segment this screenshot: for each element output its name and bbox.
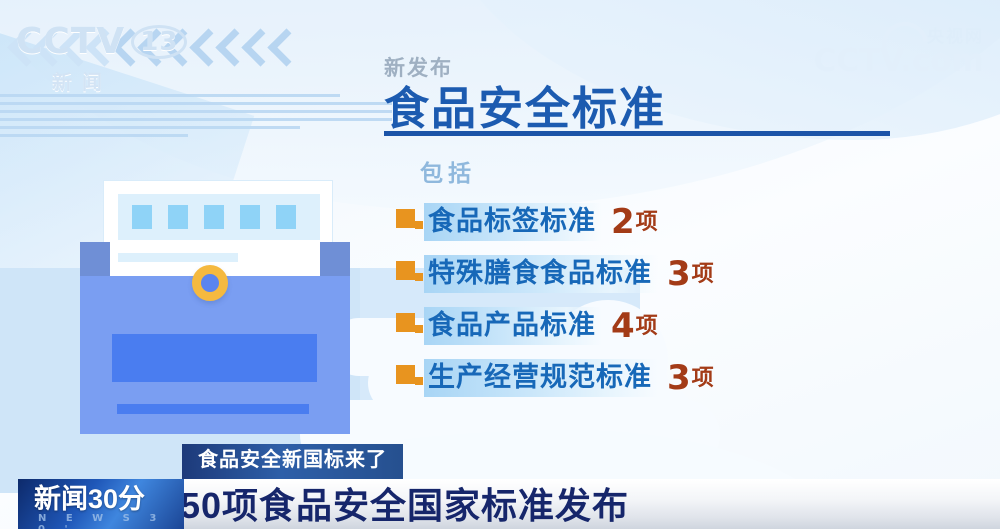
lower-third-headline: 50项食品安全国家标准发布 — [180, 484, 629, 527]
list-item-label: 食品产品标准 — [424, 307, 602, 345]
square-bullet-icon — [396, 259, 422, 289]
decorative-stripes — [0, 94, 392, 138]
list-item: 特殊膳食食品标准 3 项 — [396, 248, 856, 300]
channel-logo-number: 13 — [131, 25, 187, 60]
program-logo: 新闻30分 N E W S 3 0 ' — [18, 479, 184, 529]
document-envelope-illustration — [70, 180, 360, 440]
program-logo-text: 新闻30分 — [34, 483, 145, 515]
program-logo-subtext: N E W S 3 0 ' — [38, 513, 184, 529]
square-bullet-icon — [396, 207, 422, 237]
list-item-label: 食品标签标准 — [424, 203, 602, 241]
envelope-flap-right — [320, 242, 350, 276]
lower-third-headline-bar: 50项食品安全国家标准发布 — [58, 479, 1000, 529]
list-item: 食品标签标准 2 项 — [396, 196, 856, 248]
envelope-stripe — [117, 404, 309, 414]
title-kicker: 新发布 — [384, 58, 666, 79]
standards-list: 食品标签标准 2 项 特殊膳食食品标准 3 项 食品产品标准 4 项 生产经营规… — [396, 196, 856, 404]
envelope-flap-left — [80, 242, 110, 276]
page-title: 食品安全标准 — [384, 85, 666, 132]
list-item-label: 特殊膳食食品标准 — [424, 255, 658, 293]
chevron-left-icon — [218, 28, 240, 68]
list-item-unit: 项 — [636, 211, 658, 233]
list-item-unit: 项 — [636, 315, 658, 337]
chevron-left-icon — [244, 28, 266, 68]
chevron-left-icon — [192, 28, 214, 68]
envelope-stripe — [112, 334, 317, 382]
channel-logo: CCTV 13 新闻 — [16, 24, 187, 95]
channel-logo-text: CCTV — [16, 24, 125, 60]
lower-third-strap: 食品安全新国标来了 — [182, 444, 403, 479]
list-item: 食品产品标准 4 项 — [396, 300, 856, 352]
list-item-count: 4 — [611, 309, 635, 343]
list-item-count: 2 — [611, 205, 635, 239]
document-text-line — [118, 253, 238, 262]
chevron-left-icon — [270, 28, 292, 68]
envelope-seal-ring-icon — [192, 265, 228, 301]
list-item-count: 3 — [667, 257, 691, 291]
square-bullet-icon — [396, 363, 422, 393]
document-header-band — [118, 194, 320, 240]
list-item-unit: 项 — [692, 367, 714, 389]
list-item-label: 生产经营规范标准 — [424, 359, 658, 397]
list-intro-label: 包括 — [420, 154, 476, 188]
title-underline — [384, 131, 890, 136]
broadcast-screen: CCTV 13 新闻 央视网 CCTV.com 新发布 食品安全标准 包括 食品… — [0, 0, 1000, 529]
list-item: 生产经营规范标准 3 项 — [396, 352, 856, 404]
square-bullet-icon — [396, 311, 422, 341]
channel-logo-subtitle: 新闻 — [52, 66, 187, 95]
list-item-unit: 项 — [692, 263, 714, 285]
cctv-com-watermark: 央视网 CCTV.com — [814, 28, 984, 77]
list-item-count: 3 — [667, 361, 691, 395]
title-block: 新发布 食品安全标准 — [384, 58, 666, 132]
